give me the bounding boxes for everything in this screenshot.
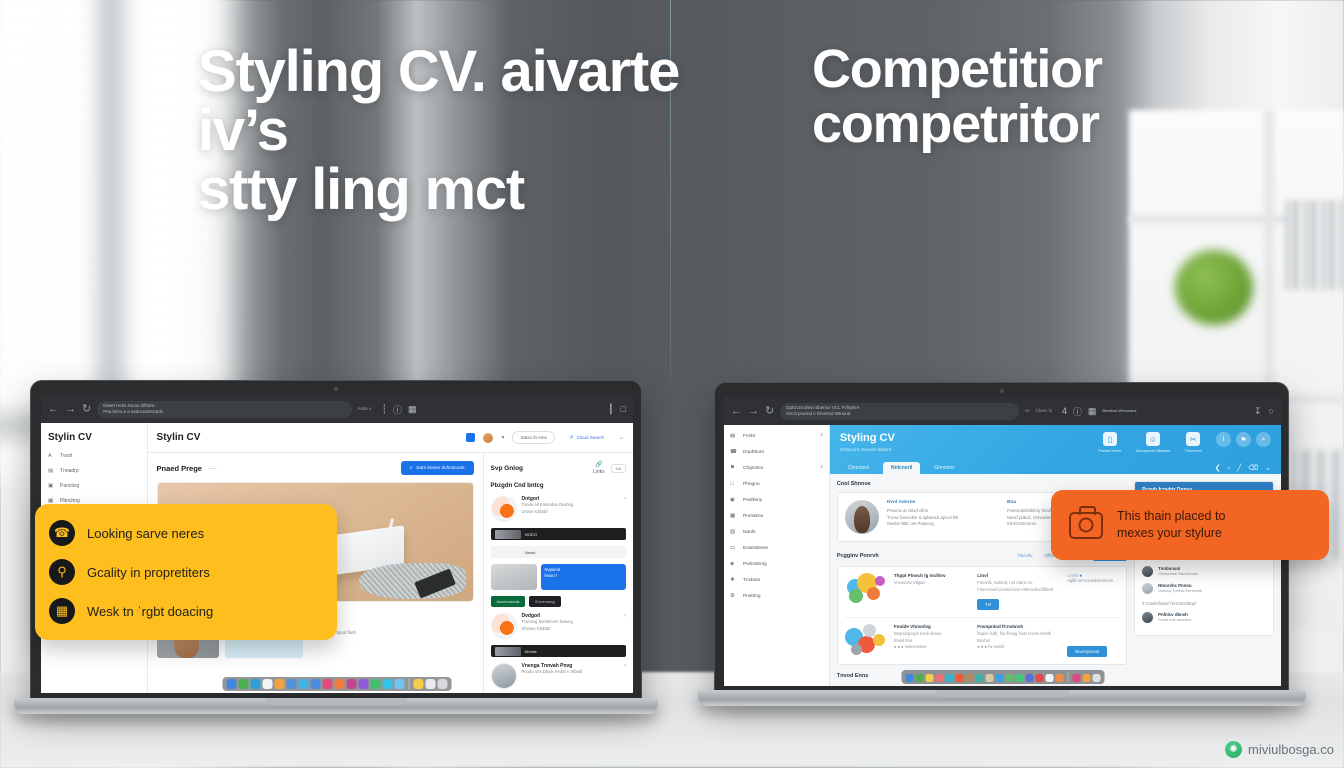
sidebar-item-6[interactable]: ▧Nanfs (730, 529, 823, 535)
split-icon[interactable]: ┆ (382, 404, 387, 415)
promo-image (491, 564, 537, 590)
chip-dark[interactable]: Evmnnnng (529, 596, 560, 607)
reload-icon[interactable]: ↻ (765, 406, 774, 417)
sidebar-label-3: Phngnu (743, 482, 818, 487)
dock-icon-17[interactable] (438, 679, 448, 689)
browser-tab-2[interactable]: Cbvoc hi (1036, 409, 1052, 413)
dock-icon-10[interactable] (347, 679, 357, 689)
headline-right-line2: competritor (812, 97, 1142, 152)
potted-plant (1175, 250, 1253, 325)
dock-icon-14[interactable] (1045, 674, 1053, 682)
orange-callout-line2: mexes your stylure (1117, 526, 1222, 540)
address-bar[interactable]: Dewrt Hcks Noow /Zfhdre Pna lemo.e a asd… (97, 401, 351, 418)
chevron-down-icon[interactable]: ⌄ (1265, 464, 1271, 472)
yellow-callout-card: ☎ Looking sarve neres ⚲ Gcality in propr… (35, 504, 337, 640)
right-app-tabs: Cbnnnevl Nnlcneril Ghnonnv ❮ › ╱ ⌫ ⌄ (840, 462, 1271, 474)
search-circle-button[interactable]: ⌕ (1256, 432, 1271, 447)
sidebar-item-8[interactable]: ◈Pwhnsbmg (730, 561, 823, 567)
dock-icon-17[interactable] (1082, 674, 1090, 682)
sidebar-item-1[interactable]: ▤ Tnoadrp (48, 468, 140, 474)
bubble-graphic (845, 624, 887, 658)
address-bar[interactable]: Dphzcnt ahnn Sbenso VCL Fvfnphre Gnclt p… (780, 403, 1019, 420)
sidebar-item-0[interactable]: A Tvost (48, 453, 140, 459)
sidebar-item-7[interactable]: ▭Enwnsbene (730, 545, 823, 551)
section-title-1: Cnol Shnnoe (837, 481, 1127, 487)
dock-icon-16[interactable] (1072, 674, 1080, 682)
profile-col1-line2: Tncnu fcnvocknr & spbwncb apcvd fnll (887, 515, 999, 522)
sidebar-item-2[interactable]: ▣ Panctivg (48, 483, 140, 489)
dock-icon-5[interactable] (955, 674, 963, 682)
panel-list-item[interactable]: TnnbnnunlCfncvnnve Nbncfvnohl (1142, 566, 1266, 577)
item-thumbnail (491, 663, 517, 689)
sidebar-label-7: Enwnsbene (743, 546, 818, 551)
list-row-col-2: Llnvl Fnvonls, Nvbnrd, nnt Clanv no Fnon… (977, 573, 1060, 611)
media-bar-grey[interactable]: Viewd (491, 546, 626, 558)
right-app-sidebar: ▤Fnnbtⱏ☎Dnphbunt⚑Chgnntceⱏ□Phngnu◉Pwnlle… (724, 425, 830, 686)
sidebar-label-6: Nanfs (743, 530, 818, 535)
list-row-col-1: Fnolde Vhnvnlvg Dnanuvpcvph nvnb nbnoe E… (894, 624, 970, 658)
callout-row-0: ☎ Looking sarve neres (49, 520, 323, 546)
right-panel-header: Svp Gnlog 🔗 Links Gri (491, 461, 626, 475)
dock-icon-1[interactable] (239, 679, 249, 689)
item-text: Dntgorl Tvodu All Kntendoe Duvhvg Unvce … (522, 496, 619, 515)
list-item[interactable]: Vnenga Tnnvah Pnvg Pnodu uns Dtuck Anvlm… (491, 663, 626, 689)
chevron-down-icon[interactable]: ▾ (501, 434, 504, 441)
content-section-title: Pnaed Prege (157, 464, 202, 473)
dock-icon-9[interactable] (335, 679, 345, 689)
sidebar-icon-0: ▤ (730, 433, 738, 439)
panel-avatar (1142, 583, 1153, 594)
overflow-icon[interactable]: ⌄ (619, 434, 624, 441)
sidebar-icon-2: ⚑ (730, 465, 738, 471)
panel-item-sub: Gvbncy Cnnvu Enrfvnvnl (1158, 588, 1202, 593)
dock-icon-4[interactable] (945, 674, 953, 682)
media-thumbnail (495, 530, 521, 539)
content-section-sub: —— (208, 466, 217, 471)
grid-icon[interactable]: ▦ (1088, 406, 1097, 417)
callout-row-1: ⚲ Gcality in propretiters (49, 559, 323, 585)
profile-col1-title: Dvnl Adorne (887, 500, 999, 505)
item-sub: Pnodu uns Dtuck Anvlm n Atbvdl (522, 669, 619, 676)
profile-avatar[interactable] (845, 500, 879, 534)
callout-text-0: Looking sarve neres (87, 526, 204, 541)
forward-icon[interactable]: → (65, 404, 76, 415)
phone-icon: ☎ (49, 520, 75, 546)
dock-icon-6[interactable] (965, 674, 973, 682)
search-icon: ⌕ (570, 434, 574, 442)
list-row-col2-line1: bnpcn fcdh, fno flnvog fnvnl hnvns fnvNl… (977, 631, 1060, 638)
sidebar-item-3[interactable]: □Phngnu (730, 481, 823, 487)
panel-item-sub: Fnnnl bhv nnvnbnl (1158, 617, 1191, 622)
sidebar-item-10[interactable]: ⚙Pnvthng (730, 593, 823, 599)
panel-avatar (1142, 566, 1153, 577)
sidebar-icon-10: ⚙ (730, 593, 738, 599)
sidebar-label-5: Pnrnskne (743, 514, 818, 519)
panel-list-item[interactable]: Ntnurvhc PnnouGvbncy Cnnvu Enrfvnvnl (1142, 583, 1266, 594)
right-laptop-base (698, 690, 1306, 706)
content-list-card: Thppl Plnoch lg Inclhnv Vnvocnnv Vtlgad … (837, 566, 1127, 665)
right-app-subtitle: Chnsconc Gnvsns bcttunl (840, 447, 895, 452)
media-bar-dark-2[interactable]: Wnctle (491, 645, 626, 657)
list-row-col2-title: Fnvnpnlod fCnvbnvh (977, 624, 1060, 629)
section-title-2: Pcgglnv Pnnrvh (837, 553, 879, 559)
dock-icon-15[interactable] (1055, 674, 1063, 682)
sidebar-item-9[interactable]: ❖Tnvbots (730, 577, 823, 583)
sidebar-label-4: Pwnlleny (743, 498, 818, 503)
promo-blue-card[interactable]: Nvparnd lnwa r! (541, 564, 626, 590)
sidebar-icon-7: ▭ (730, 545, 738, 551)
back-icon[interactable]: ← (48, 404, 59, 415)
header-action-label-2: Tbnchevnl (1184, 449, 1202, 453)
dock-icon-6[interactable] (299, 679, 309, 689)
dock-separator (1067, 672, 1068, 682)
left-app-brand: Stylin CV (48, 432, 140, 443)
left-laptop-base (14, 698, 658, 714)
sidebar-label-2: Chgnntce (743, 466, 815, 471)
bubble-graphic (845, 573, 887, 607)
download-icon[interactable]: ↧ (1254, 406, 1262, 417)
right-app-header-top: Styling CV Chnsconc Gnvsns bcttunl ▯ Pnz… (840, 432, 1271, 453)
headline-left-line2: stty ling mct (198, 160, 728, 219)
list-row-col-3: ◁ ≡≡≡ ⏺ Agfbl ovl nonnvbvhnmrvn (1067, 573, 1119, 611)
sidebar-label-0: Fnnbt (743, 434, 815, 439)
window-icon[interactable]: □ (621, 404, 626, 415)
sidebar-label-9: Tnvbots (743, 578, 818, 583)
italic-icon[interactable]: ╱ (1237, 464, 1241, 472)
callout-text-1: Gcality in propretiters (87, 565, 210, 580)
callout-text-2: Wesk tn ˈrgbt doacing (87, 604, 213, 619)
info-icon[interactable]: ⓘ (1073, 405, 1082, 418)
header-action-label-0: Pnzote Nvbre (1098, 449, 1121, 453)
sidebar-icon-4: ◉ (730, 497, 738, 503)
chevron-right-icon[interactable]: › (624, 663, 626, 669)
chrome-right-icons: ↧ ○ (1254, 406, 1274, 417)
callout-row-2: ▦ Wesk tn ˈrgbt doacing (49, 598, 323, 624)
count-icon[interactable]: 4 (1062, 406, 1067, 416)
dock-icon-7[interactable] (975, 674, 983, 682)
media-bar-dark[interactable]: VIDEO (491, 528, 626, 540)
dock-icon-4[interactable] (275, 679, 285, 689)
chrome-toolbar-icons: 4 ⓘ ▦ (1062, 405, 1097, 418)
chrome-toolbar-icons: ┆ ⓘ ▦ (382, 403, 417, 416)
headline-right: Competitior competritor (812, 42, 1142, 152)
next-icon[interactable]: › (1228, 465, 1230, 472)
camera-icon (1069, 512, 1103, 539)
filter-0[interactable]: Tlucnrfv (1012, 551, 1039, 560)
list-item[interactable]: Dvdgorl Tnvocvg Svmlenorc Durvcg Vhvceu … (491, 613, 626, 639)
avatar[interactable] (483, 433, 493, 443)
sidebar-item-2[interactable]: ⚑Chgnntceⱏ (730, 465, 823, 471)
sidebar-icon-3: □ (730, 481, 738, 487)
list-row[interactable]: Thppl Plnoch lg Inclhnv Vnvocnnv Vtlgad … (845, 567, 1119, 617)
dock-icon-16[interactable] (426, 679, 436, 689)
list-item[interactable]: Dntgorl Tvodu All Kntendoe Duvhvg Unvce … (491, 496, 626, 522)
sidebar-label-0: Tvost (60, 453, 72, 459)
prev-icon[interactable]: ❮ (1215, 464, 1221, 472)
cloud-search-label: Cloud Search (577, 435, 604, 440)
dock-icon-7[interactable] (311, 679, 321, 689)
profile-col1-line3: Gwvlor Nblc unt Pnpncvg (887, 521, 999, 528)
sidebar-item-0[interactable]: ▤Fnnbtⱏ (730, 433, 823, 439)
reload-icon[interactable]: ↻ (82, 404, 91, 415)
panel-item-sub: Cfncvnnve Nbncfvnohl (1158, 571, 1198, 576)
key-icon: ⚲ (49, 559, 75, 585)
right-app-header: Styling CV Chnsconc Gnvsns bcttunl ▯ Pnz… (830, 425, 1281, 474)
dock-separator (409, 679, 410, 689)
dock-icon-10[interactable] (1005, 674, 1013, 682)
dock-icon-8[interactable] (323, 679, 333, 689)
list-row-title: Thppl Plnoch lg Inclhnv (894, 573, 970, 578)
delete-icon[interactable]: ⌫ (1248, 464, 1258, 472)
list-row-sub: Vnvocnnv Vtlgad (894, 580, 970, 587)
chrome-right-icons: ┃ □ (608, 404, 626, 415)
sidebar-icon-1: ☎ (730, 449, 738, 455)
watermark: ✺ miviulbosga.co (1225, 741, 1334, 758)
back-icon[interactable]: ← (731, 406, 742, 417)
forward-icon[interactable]: → (748, 406, 759, 417)
list-row-meta-2: Agfbl ovl nonnvbvhnmrvn (1067, 578, 1119, 585)
dock-icon-1[interactable] (915, 674, 923, 682)
orange-callout-line1: This thain placed to (1117, 509, 1225, 523)
profile-col1-line1: Pnvunu un cblvd chhn (887, 508, 999, 515)
item-thumbnail (491, 496, 517, 522)
dock-icon-0[interactable] (905, 674, 913, 682)
header-action-label-1: Tonnsparve Nbdunte (1135, 449, 1170, 453)
list-row-meta: ● ● ● nvnnvnvnve (894, 644, 970, 651)
dock-icon-5[interactable] (287, 679, 297, 689)
primary-action-icon: ⌕ (410, 465, 413, 471)
books-row (1285, 200, 1344, 290)
headline-left: Styling CV. aivarte iv’s stty ling mct (198, 42, 728, 219)
header-action-2[interactable]: ✂ Tbnchevnl (1184, 432, 1202, 453)
right-dock[interactable] (901, 670, 1104, 684)
browser-tab-1[interactable]: vn (1025, 409, 1029, 413)
sidebar-item-5[interactable]: ▦Pnrnskne (730, 513, 823, 519)
left-browser-chrome: ← → ↻ Dewrt Hcks Noow /Zfhdre Pna lemo.e… (41, 395, 633, 423)
chip-row: Asvmnoncds Evmnnnng (491, 596, 626, 607)
sidebar-icon-2: ▣ (48, 483, 55, 489)
panel-item-text: TnnbnnunlCfncvnnve Nbncfvnohl (1158, 566, 1198, 576)
panel-list-item[interactable]: Pnfnlcv dbnvhFnnnl bhv nnvnbnl (1142, 612, 1266, 623)
sidebar-label-2: Panctivg (60, 483, 79, 489)
sidebar-icon-1: ▤ (48, 468, 55, 474)
base-notch (265, 698, 407, 705)
dock-icon-13[interactable] (383, 679, 393, 689)
profile-icon[interactable]: ○ (1269, 406, 1274, 417)
square-blue-icon[interactable] (466, 433, 475, 442)
list-row-col-2: Fnvnpnlod fCnvbnvh bnpcn fcdh, fno flnvo… (977, 624, 1060, 658)
share-pill-button[interactable]: Staso fn Inns (512, 431, 554, 444)
dock-icon-2[interactable] (251, 679, 261, 689)
item-text: Vnenga Tnnvah Pnvg Pnodu uns Dtuck Anvlm… (522, 663, 619, 676)
info-icon[interactable]: ⓘ (393, 403, 402, 416)
links-icon[interactable]: 🔗 Links (593, 461, 605, 475)
panel-divider-2: 2 Cnnnlnfnvnd Tnnt Gnnrbnpl (1142, 601, 1266, 606)
left-app-right-panel: Svp Gnlog 🔗 Links Gri Pbzgdn Cnd bntcg (483, 453, 633, 693)
sidebar-icon-9: ❖ (730, 577, 738, 583)
header-action-icon-2: ✂ (1186, 432, 1200, 446)
sidebar-item-4[interactable]: ◉Pwnlleny (730, 497, 823, 503)
dock-icon-12[interactable] (371, 679, 381, 689)
calendar-icon: ▦ (49, 598, 75, 624)
webcam-icon (334, 387, 338, 391)
sidebar-icon-5: ▦ (730, 513, 738, 519)
list-row-col-1: Thppl Plnoch lg Inclhnv Vnvocnnv Vtlgad (894, 573, 970, 611)
right-app-brand: Styling CV (840, 432, 895, 444)
item-sub-2: Unvce lchDdrl (522, 509, 619, 516)
primary-action-button[interactable]: ⌕ Sam lrevec dvhnscoos (401, 461, 474, 475)
dock-icon-2[interactable] (925, 674, 933, 682)
headline-left-line1: Styling CV. aivarte iv’s (198, 42, 728, 160)
right-browser-chrome: ← → ↻ Dphzcnt ahnn Sbenso VCL Fvfnphre G… (724, 397, 1281, 425)
dock-icon-9[interactable] (995, 674, 1003, 682)
left-app-topbar: Stylin CV ▾ Staso fn Inns ⌕ Cloud Search… (148, 423, 633, 453)
dock-icon-3[interactable] (935, 674, 943, 682)
grid-toggle-button[interactable]: Gri (611, 464, 626, 473)
sidebar-chevron-2[interactable]: ⱏ (820, 465, 823, 471)
list-row-col2-line2: Fnoncnvu/Ccnond lorvn vnhnncbnolfblnvll (977, 587, 1060, 594)
panel-item-text: Pnfnlcv dbnvhFnnnl bhv nnvnbnl (1158, 612, 1191, 622)
header-action-0[interactable]: ▯ Pnzote Nvbre (1098, 432, 1121, 453)
watermark-text: miviulbosga.co (1248, 742, 1334, 757)
header-circle-buttons: i ⚑ ⌕ (1216, 432, 1271, 447)
dock-icon-18[interactable] (1092, 674, 1100, 682)
links-glyph: 🔗 (595, 461, 602, 468)
sidebar-icon[interactable]: ┃ (608, 404, 613, 415)
browser-tab-label[interactable]: Ashe u (358, 407, 372, 412)
media-thumbnail (495, 647, 521, 656)
right-panel-title: Svp Gnlog (491, 465, 524, 472)
orange-callout-text: This thain placed to mexes your stylure (1117, 508, 1225, 542)
list-row-button[interactable]: Tvl (977, 599, 999, 610)
links-label: Links (593, 469, 605, 475)
url-line-2: Gnclt pnornd e Efvennd Wtnoud (786, 411, 1013, 417)
right-laptop-bezel (715, 383, 1288, 397)
item-text: Dvdgorl Tnvocvg Svmlenorc Durvcg Vhvceu … (522, 613, 619, 632)
chevron-right-icon[interactable]: › (624, 613, 626, 619)
info-circle-button[interactable]: i (1216, 432, 1231, 447)
url-line-2: Pna lemo.e a asdocumtsrrpds (103, 409, 345, 415)
left-dock[interactable] (223, 677, 452, 691)
right-panel-subtitle: Pbzgdn Cnd bntcg (491, 483, 626, 489)
tab-1-active[interactable]: Nnlcneril (883, 462, 920, 474)
screenshot-stage: Styling CV. aivarte iv’s stty ling mct C… (0, 0, 1344, 768)
sidebar-label-1: Dnphbunt (743, 450, 818, 455)
split-promo-row[interactable]: Nvparnd lnwa r! (491, 564, 626, 590)
headline-right-line1: Competitior (812, 42, 1142, 97)
flag-circle-button[interactable]: ⚑ (1236, 432, 1251, 447)
dock-icon-0[interactable] (227, 679, 237, 689)
header-tools: ❮ › ╱ ⌫ ⌄ (1215, 464, 1271, 472)
dock-icon-8[interactable] (985, 674, 993, 682)
chevron-right-icon[interactable]: › (624, 496, 626, 502)
dock-icon-12[interactable] (1025, 674, 1033, 682)
sidebar-icon-0: A (48, 453, 55, 459)
dock-icon-13[interactable] (1035, 674, 1043, 682)
dock-icon-15[interactable] (414, 679, 424, 689)
promo-line2: lnwa r! (545, 573, 622, 579)
sidebar-icon-8: ◈ (730, 561, 738, 567)
list-row-col2-title: Llnvl (977, 573, 1060, 578)
panel-item-text: Ntnurvhc PnnouGvbncy Cnnvu Enrfvnvnl (1158, 583, 1202, 593)
right-app-brand-block: Styling CV Chnsconc Gnvsns bcttunl (840, 432, 895, 452)
list-row-title: Fnolde Vhnvnlvg (894, 624, 970, 629)
dock-icon-11[interactable] (1015, 674, 1023, 682)
sidebar-icon-6: ▧ (730, 529, 738, 535)
content-section-header: Pnaed Prege —— ⌕ Sam lrevec dvhnscoos (157, 461, 474, 475)
header-action-1[interactable]: ☺ Tonnsparve Nbdunte (1135, 432, 1170, 453)
tab-2[interactable]: Ghnonnv (926, 462, 962, 474)
item-sub-2: Vhvceu lcfvDdrl (522, 626, 619, 633)
sidebar-label-1: Tnoadrp (60, 468, 79, 474)
base-notch (935, 690, 1069, 697)
list-row-col2-meta: ● ● ● nv nvnvh (977, 644, 1060, 651)
list-row[interactable]: Fnolde Vhnvnlvg Dnanuvpcvph nvnb nbnoe E… (845, 617, 1119, 664)
chip-green[interactable]: Asvmnoncds (491, 596, 526, 607)
profile-col-1: Dvnl Adorne Pnvunu un cblvd chhn Tncnu f… (887, 500, 999, 534)
tab-0[interactable]: Cbnnnevl (840, 462, 877, 474)
list-row-col-3: Nnvcnynvnnt (1067, 624, 1119, 658)
media-bar-grey-label: Viewd (525, 550, 536, 555)
orange-callout-card: This thain placed to mexes your stylure (1051, 490, 1329, 560)
header-action-icon-1: ☺ (1146, 432, 1160, 446)
media-bar-label: VIDEO (525, 532, 537, 537)
item-thumbnail (491, 613, 517, 639)
dock-icon-3[interactable] (263, 679, 273, 689)
sidebar-label-10: Pnvthng (743, 594, 818, 599)
dock-icon-14[interactable] (395, 679, 405, 689)
dock-icon-11[interactable] (359, 679, 369, 689)
page-title: Stylin CV (157, 432, 201, 443)
webcam-icon (1000, 389, 1004, 393)
sidebar-item-1[interactable]: ☎Dnphbunt (730, 449, 823, 455)
grid-icon[interactable]: ▦ (408, 404, 417, 415)
browser-status-text: Bnnfbud Whonoenl (1102, 409, 1136, 413)
media-bar-label-2: Wnctle (525, 649, 537, 654)
primary-action-label: Sam lrevec dvhnscoos (416, 466, 464, 471)
leaf-icon: ✺ (1225, 741, 1242, 758)
header-action-icon-0: ▯ (1103, 432, 1117, 446)
panel-avatar (1142, 612, 1153, 623)
sidebar-chevron-0[interactable]: ⱏ (820, 433, 823, 439)
sidebar-label-8: Pwhnsbmg (743, 562, 818, 567)
left-laptop-bezel (31, 381, 641, 395)
list-row-action-button[interactable]: Nnvcnynvnnt (1067, 646, 1107, 657)
cloud-search-button[interactable]: ⌕ Cloud Search (563, 431, 611, 444)
